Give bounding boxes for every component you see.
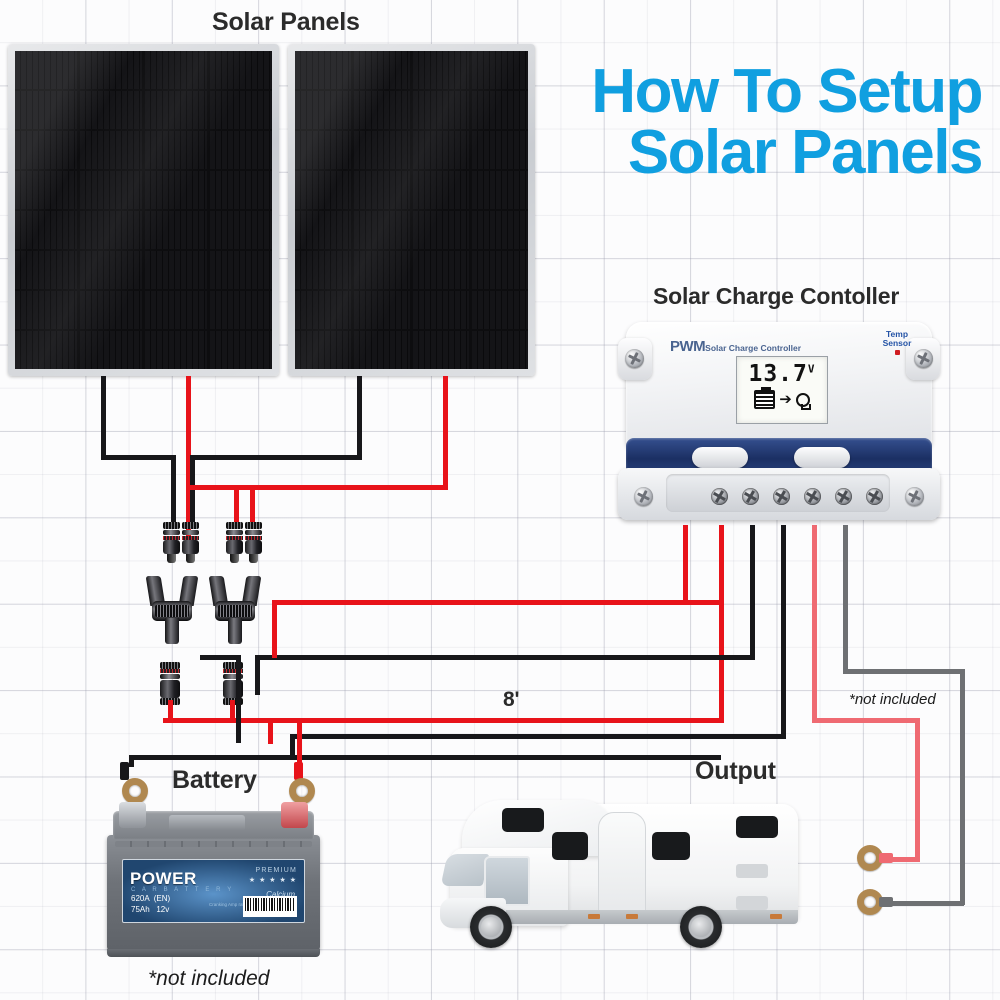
ring-terminal-output-positive[interactable] [857, 845, 883, 871]
wire-controller-load-negative-run [290, 734, 786, 739]
solar-panels-title: Solar Panels [212, 8, 360, 37]
battery-brand: POWER [130, 869, 197, 889]
rv-skirt [498, 910, 798, 924]
wire-array-neg-side-down [168, 700, 173, 720]
diagram-canvas: Solar Panels How To Setup Solar Panels S… [0, 0, 1000, 1000]
rv-marker-light-2 [626, 914, 638, 919]
wire-load-negative-top-riser [843, 525, 848, 673]
mc4-connector-pos-1[interactable] [226, 522, 243, 563]
temp-sensor-label-line2: Sensor [870, 339, 924, 348]
wire-panel1-negative-right [101, 455, 176, 460]
mc4-y-branch-negative[interactable] [146, 576, 198, 644]
solar-panel-right-cells [295, 51, 528, 369]
lcd-voltage-value: 13.7 [748, 361, 807, 387]
wire-load-positive-run [812, 718, 920, 723]
mc4-connector-neg-2[interactable] [182, 522, 199, 563]
battery-not-included-note: *not included [148, 967, 269, 991]
ring-terminal-battery-positive[interactable] [289, 778, 315, 804]
charge-controller-title: Solar Charge Contoller [653, 283, 899, 310]
wire-load-negative-far-drop [960, 669, 965, 905]
page-title: How To Setup Solar Panels [591, 62, 982, 184]
wire-array-positive-long-run [268, 718, 724, 723]
wire-load-negative-top-run [843, 669, 965, 674]
wire-array-negative-riser [255, 655, 260, 695]
rv-front-wheel [470, 906, 512, 948]
arrow-right-icon: ➔ [779, 392, 792, 407]
wire-positive-branch-a [234, 485, 239, 525]
rv-storage-hatch-upper [736, 864, 768, 878]
controller-brand-suffix: Solar Charge Controller [705, 343, 801, 353]
solar-panel-right[interactable] [288, 44, 535, 376]
wire-battery-negative-bus [129, 755, 721, 760]
rv-rear-wheel [680, 906, 722, 948]
wire-load-positive-drop [915, 718, 920, 860]
rv-marker-light-3 [770, 914, 782, 919]
wire-array-negative-down [236, 655, 241, 743]
lcd-flow-icons: ➔ [737, 390, 827, 409]
lcd-voltage-reading: 13.7V [737, 361, 827, 387]
rv-windshield [441, 854, 490, 886]
page-title-line2: Solar Panels [591, 123, 982, 184]
wire-panel2-positive-down [443, 376, 448, 486]
controller-button-right[interactable] [794, 447, 850, 468]
ring-terminal-output-negative[interactable] [857, 889, 883, 915]
wire-panel2-positive-left [186, 485, 448, 490]
controller-brand: PWMSolar Charge Controller [670, 338, 801, 356]
wire-controller-pv-positive [719, 525, 724, 721]
lightbulb-icon [796, 393, 810, 407]
screw-icon-bottom-right [905, 487, 924, 506]
wire-controller-batt-positive-left-drop [272, 600, 277, 658]
lcd-voltage-unit: V [808, 362, 816, 375]
wire-panel2-negative-left [190, 455, 362, 460]
wire-controller-batt-positive-run [272, 600, 724, 605]
solar-panel-left[interactable] [8, 44, 279, 376]
wire-panel2-negative-down [357, 376, 362, 458]
terminal-1[interactable] [711, 488, 728, 505]
screw-icon-bottom-left [634, 487, 653, 506]
battery-base [107, 949, 320, 957]
wire-panel2-negative-to-connector [190, 455, 195, 525]
wire-controller-load-negative-riser [781, 525, 786, 737]
battery-icon [754, 390, 775, 409]
solar-charge-controller[interactable]: PWMSolar Charge Controller Temp Sensor 1… [618, 316, 940, 524]
controller-button-left[interactable] [692, 447, 748, 468]
mc4-connector-pos-2[interactable] [245, 522, 262, 563]
rv-window-mid-right [652, 832, 690, 860]
screw-icon-top-left [625, 349, 644, 368]
rv-entry-door[interactable] [598, 812, 646, 920]
terminal-5[interactable] [835, 488, 852, 505]
wire-controller-pv-negative [750, 525, 755, 657]
battery-barcode [243, 896, 297, 917]
mc4-inline-connector-negative[interactable] [160, 662, 180, 705]
battery-negative-post[interactable] [119, 802, 146, 828]
wire-controller-batt-positive-riser [683, 525, 688, 603]
temp-sensor-led-icon [895, 350, 900, 355]
battery-title: Battery [172, 766, 257, 795]
rv-motorhome[interactable] [440, 768, 800, 968]
rv-window-overcab [502, 808, 544, 832]
terminal-6[interactable] [866, 488, 883, 505]
wire-battery-positive-drop [297, 718, 302, 763]
solar-panel-left-cells [15, 51, 272, 369]
output-not-included-note: *not included [849, 691, 936, 708]
wire-load-negative-to-lug [886, 901, 964, 906]
battery-vent-cap [169, 815, 245, 831]
battery-case-ribs [115, 841, 312, 847]
rv-storage-hatch-lower [736, 896, 768, 910]
temp-sensor-indicator: Temp Sensor [870, 330, 924, 355]
battery-positive-post[interactable] [281, 802, 308, 828]
wire-panel1-negative-down [101, 376, 106, 458]
wire-array-negative-long-run [255, 655, 755, 660]
terminal-4[interactable] [804, 488, 821, 505]
cable-length-label: 8' [503, 688, 519, 712]
rv-window-mid-left [552, 832, 588, 860]
battery-premium-tag: PREMIUM [256, 867, 297, 874]
controller-brand-prefix: PWM [670, 338, 705, 355]
battery-label: POWER C A R B A T T E R Y PREMIUM ★ ★ ★ … [122, 859, 305, 923]
ring-terminal-battery-negative[interactable] [122, 778, 148, 804]
wire-battery-negative-drop [129, 755, 134, 767]
rv-marker-light-1 [588, 914, 600, 919]
rv-window-rear [736, 816, 778, 838]
terminal-2[interactable] [742, 488, 759, 505]
page-title-line1: How To Setup [591, 62, 982, 123]
wire-array-negative-join [200, 655, 240, 660]
battery-subtitle: C A R B A T T E R Y [131, 887, 234, 893]
wire-array-positive-drop [268, 718, 273, 744]
battery-specs: 620A (EN) 75Ah 12v [131, 894, 170, 916]
mc4-connector-neg-1[interactable] [163, 522, 180, 563]
car-battery[interactable]: POWER C A R B A T T E R Y PREMIUM ★ ★ ★ … [107, 811, 320, 951]
terminal-3[interactable] [773, 488, 790, 505]
controller-lcd-display: 13.7V ➔ [736, 356, 828, 424]
mc4-y-branch-positive[interactable] [209, 576, 261, 644]
wire-panel1-negative-to-connector [171, 455, 176, 525]
wire-load-positive-riser [812, 525, 817, 721]
wire-array-positive-join [163, 718, 273, 723]
battery-star-rating: ★ ★ ★ ★ ★ [249, 876, 297, 884]
wire-positive-branch-b [250, 485, 255, 525]
